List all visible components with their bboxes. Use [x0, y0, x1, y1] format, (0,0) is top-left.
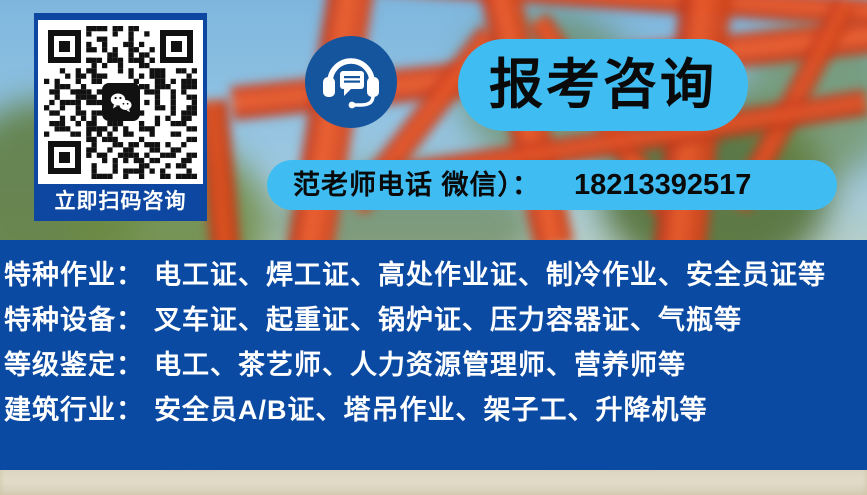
- category-items: 叉车证、起重证、锅炉证、压力容器证、气瓶等: [154, 307, 742, 334]
- consult-cta-label: 报考咨询: [489, 58, 717, 112]
- contact-phone-bar[interactable]: 范老师电话 微信）： 18213392517: [267, 160, 837, 210]
- headset-chat-icon: [305, 36, 397, 128]
- contact-label: 范老师电话 微信）：: [293, 172, 540, 199]
- category-label: 等级鉴定：: [4, 352, 154, 379]
- category-items: 安全员A/B证、塔吊作业、架子工、升降机等: [154, 397, 708, 424]
- category-label: 特种作业：: [4, 262, 154, 289]
- qr-card-label: 立即扫码咨询: [55, 184, 187, 218]
- qr-card[interactable]: 立即扫码咨询: [34, 13, 207, 221]
- wechat-icon: [102, 83, 140, 121]
- category-row-special-equipment: 特种设备： 叉车证、起重证、锅炉证、压力容器证、气瓶等: [4, 307, 867, 352]
- certificate-categories-panel: 特种作业： 电工证、焊工证、高处作业证、制冷作业、安全员证等 特种设备： 叉车证…: [0, 240, 867, 470]
- category-label: 特种设备：: [4, 307, 154, 334]
- contact-phone-number[interactable]: 18213392517: [574, 171, 751, 200]
- category-row-special-operations: 特种作业： 电工证、焊工证、高处作业证、制冷作业、安全员证等: [4, 262, 867, 307]
- category-row-construction-industry: 建筑行业： 安全员A/B证、塔吊作业、架子工、升降机等: [4, 397, 867, 442]
- qr-finder-top-left: [48, 30, 81, 63]
- category-items: 电工证、焊工证、高处作业证、制冷作业、安全员证等: [154, 262, 826, 289]
- category-row-grade-appraisal: 等级鉴定： 电工、茶艺师、人力资源管理师、营养师等: [4, 352, 867, 397]
- category-items: 电工、茶艺师、人力资源管理师、营养师等: [154, 352, 686, 379]
- promo-poster: 立即扫码咨询 报考咨询 范老师电话 微信）： 18213392517: [0, 0, 867, 495]
- qr-code-modules: [44, 26, 197, 178]
- category-label: 建筑行业：: [4, 397, 154, 424]
- qr-finder-top-right: [160, 30, 193, 63]
- qr-finder-bottom-left: [48, 141, 81, 174]
- qr-code-image[interactable]: [38, 20, 203, 184]
- consult-cta-button[interactable]: 报考咨询: [458, 39, 748, 131]
